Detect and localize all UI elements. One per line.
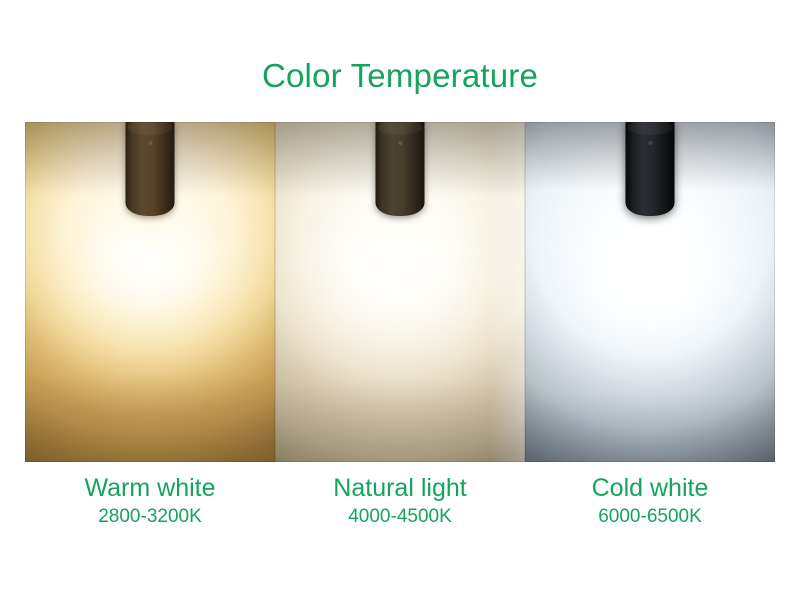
lamp-screw-dot-cold [648,141,652,145]
caption-kelvin-cold-white: 6000-6500K [525,504,775,530]
caption-kelvin-warm-white: 2800-3200K [25,504,275,530]
lamp-top-face-natural [378,122,423,135]
page-title: Color Temperature [0,56,800,96]
lamp-screw-dot-warm [148,141,152,145]
caption-kelvin-natural-light: 4000-4500K [275,504,525,530]
panel-warm-white [25,122,275,462]
caption-warm-white: Warm white 2800-3200K [25,472,275,542]
ceiling-spotlight-icon-cold [626,122,675,216]
caption-natural-light: Natural light 4000-4500K [275,472,525,542]
ceiling-spotlight-icon-warm [126,122,175,216]
lamp-top-face-warm [128,122,173,135]
panel-cold-white [525,122,775,462]
caption-row: Warm white 2800-3200K Natural light 4000… [25,472,775,542]
lamp-screw-dot-natural [398,141,402,145]
ceiling-spotlight-icon-natural [376,122,425,216]
caption-name-warm-white: Warm white [25,472,275,504]
caption-name-cold-white: Cold white [525,472,775,504]
caption-name-natural-light: Natural light [275,472,525,504]
caption-cold-white: Cold white 6000-6500K [525,472,775,542]
panel-natural-light [275,122,525,462]
lamp-top-face-cold [628,122,673,135]
color-temperature-comparison-strip [25,122,775,462]
